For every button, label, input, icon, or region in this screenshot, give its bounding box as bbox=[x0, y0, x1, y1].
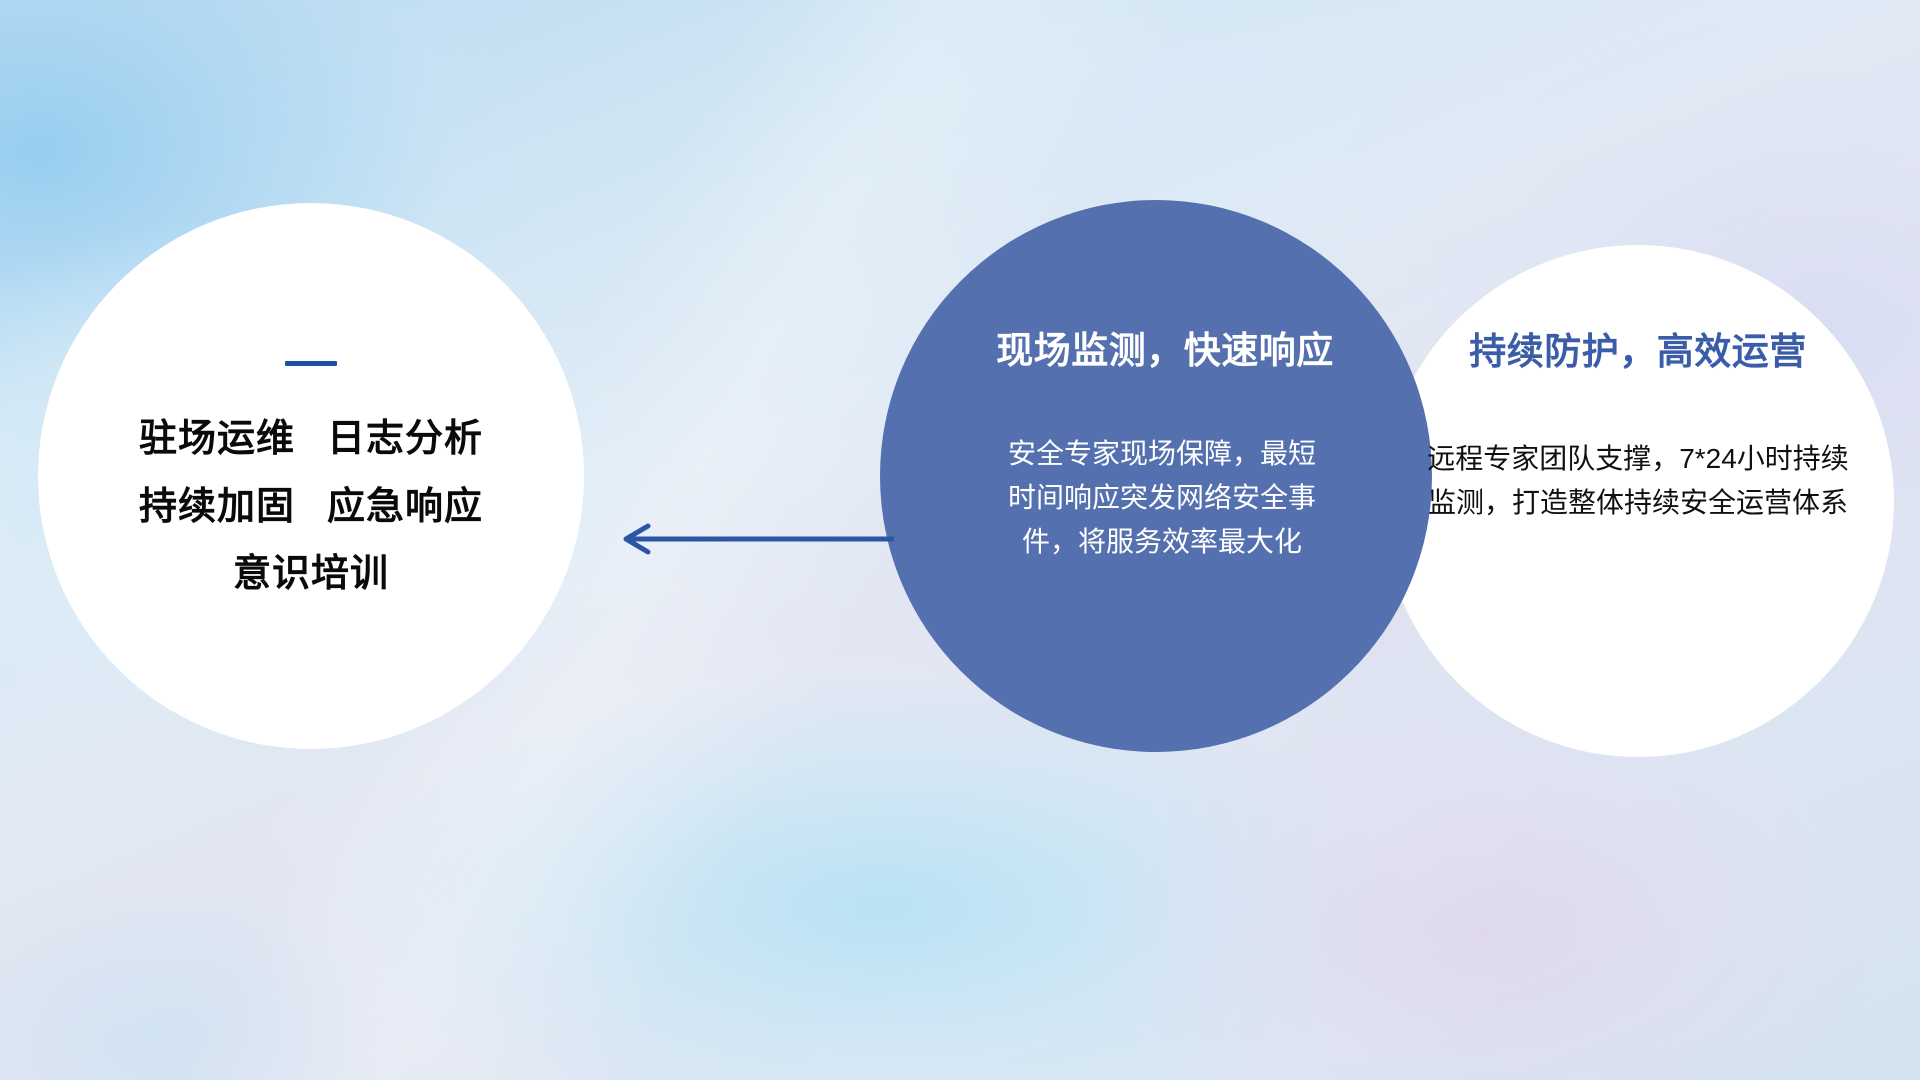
capability-item-3: 持续加固 bbox=[139, 486, 295, 528]
capability-item-2: 日志分析 bbox=[327, 418, 483, 460]
capability-item-1: 驻场运维 bbox=[139, 418, 295, 460]
middle-circle-body: 安全专家现场保障，最短时间响应突发网络安全事件，将服务效率最大化 bbox=[1007, 432, 1317, 565]
capability-item-5: 意识培训 bbox=[233, 553, 389, 595]
capability-item-4: 应急响应 bbox=[327, 486, 483, 528]
divider-rule bbox=[285, 361, 337, 366]
left-circle-content: 驻场运维日志分析 持续加固应急响应 意识培训 bbox=[38, 203, 584, 749]
left-arrow-icon bbox=[606, 522, 896, 556]
right-circle-content: 持续防护，高效运营 远程专家团队支撑，7*24小时持续监测，打造整体持续安全运营… bbox=[1382, 245, 1894, 757]
capability-row: 意识培训 bbox=[233, 553, 389, 597]
capability-row: 持续加固应急响应 bbox=[139, 486, 483, 530]
capability-row: 驻场运维日志分析 bbox=[139, 418, 483, 462]
right-circle-body: 远程专家团队支撑，7*24小时持续监测，打造整体持续安全运营体系 bbox=[1423, 437, 1853, 525]
right-circle-title: 持续防护，高效运营 bbox=[1469, 321, 1807, 375]
infographic-slide: 驻场运维日志分析 持续加固应急响应 意识培训 现场监测，快速响应 安全专家现场保… bbox=[0, 0, 1920, 1080]
middle-circle-content: 现场监测，快速响应 安全专家现场保障，最短时间响应突发网络安全事件，将服务效率最… bbox=[880, 200, 1432, 752]
capability-list: 驻场运维日志分析 持续加固应急响应 意识培训 bbox=[139, 418, 483, 597]
middle-circle-title: 现场监测，快速响应 bbox=[996, 320, 1334, 374]
